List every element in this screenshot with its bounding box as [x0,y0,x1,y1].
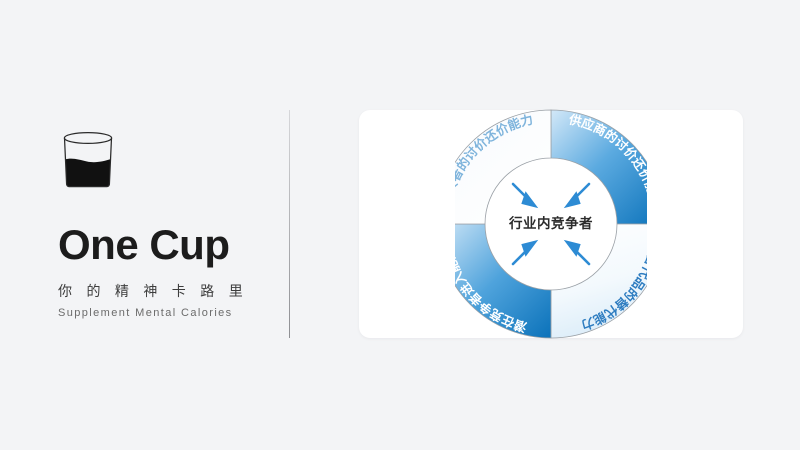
brand-block: One Cup 你 的 精 神 卡 路 里 Supplement Mental … [58,128,278,320]
donut-chart-svg: 供应商的讨价还价能力 替代品的替代能力 潜在竞争者进入能力 购买者的讨价还价能力… [455,108,647,340]
arrow-from-buyer-power [513,184,535,206]
porter-five-forces-diagram: 供应商的讨价还价能力 替代品的替代能力 潜在竞争者进入能力 购买者的讨价还价能力… [359,110,743,338]
brand-subtitle-cn: 你 的 精 神 卡 路 里 [58,283,278,301]
donut-center-label: 行业内竞争者 [508,215,593,232]
brand-subtitle-en: Supplement Mental Calories [58,306,278,320]
arrow-from-substitute-threat [567,242,589,264]
page-title: One Cup [58,224,278,266]
vertical-divider [289,110,290,338]
diagram-card: 供应商的讨价还价能力 替代品的替代能力 潜在竞争者进入能力 购买者的讨价还价能力… [359,110,743,338]
arrow-from-new-entrant-threat [513,242,535,264]
slide-canvas: One Cup 你 的 精 神 卡 路 里 Supplement Mental … [0,0,800,450]
arrow-from-supplier-power [567,184,589,206]
glass-cup-icon [58,128,118,194]
